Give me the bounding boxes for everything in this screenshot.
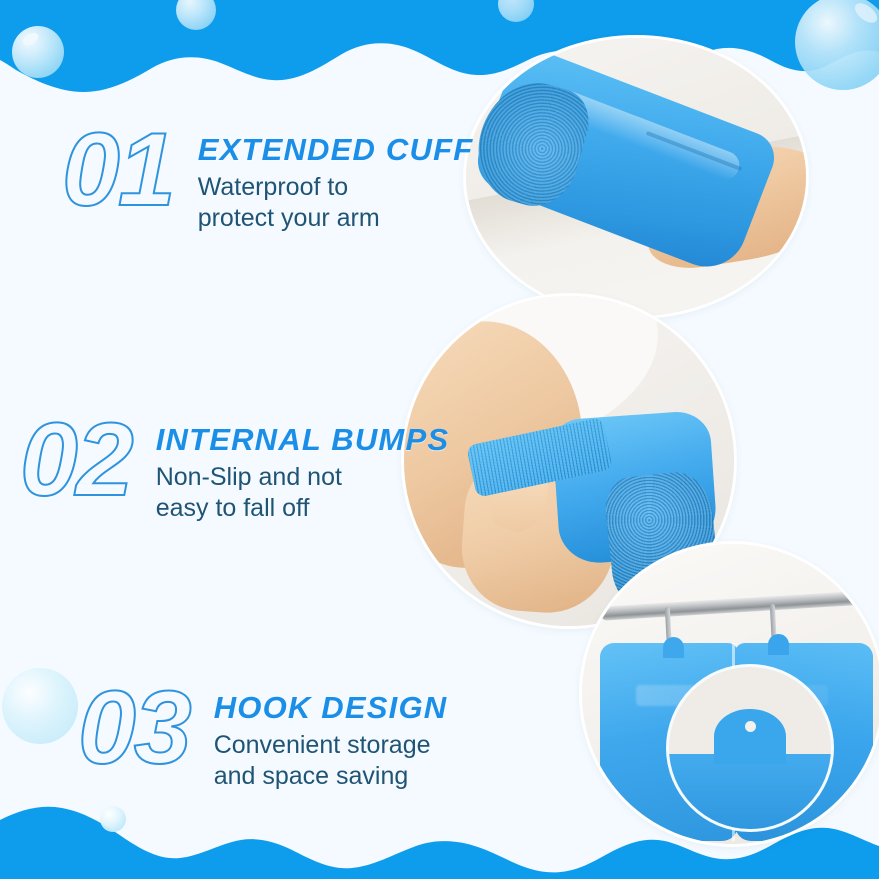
feature-heading-02: INTERNAL BUMPS — [156, 422, 450, 458]
feature-number-03: 03 — [78, 676, 190, 780]
infographic-canvas: 01 EXTENDED CUFF Waterproof to protect y… — [0, 0, 879, 879]
feature-line1-02: Non-Slip and not — [156, 462, 450, 493]
photo-extended-cuff — [466, 38, 806, 316]
feature-line2-02: easy to fall off — [156, 493, 450, 524]
feature-number-02: 02 — [20, 408, 132, 512]
feature-line2-01: protect your arm — [198, 203, 474, 234]
feature-line1-03: Convenient storage — [214, 730, 448, 761]
feature-row-01: 01 EXTENDED CUFF Waterproof to protect y… — [62, 118, 473, 233]
feature-heading-03: HOOK DESIGN — [214, 690, 448, 726]
hook-detail-inset — [669, 667, 831, 829]
feature-heading-01: EXTENDED CUFF — [198, 132, 474, 168]
bubble-decoration-upper-left — [12, 26, 64, 78]
bubble-decoration-top-right-small — [498, 0, 534, 22]
feature-row-02: 02 INTERNAL BUMPS Non-Slip and not easy … — [20, 408, 449, 523]
bubble-decoration-lower-left — [2, 668, 78, 744]
bubble-decoration-top-middle — [176, 0, 216, 30]
feature-line2-03: and space saving — [214, 761, 448, 792]
feature-line1-01: Waterproof to — [198, 172, 474, 203]
bubble-decoration-bottom-small — [100, 806, 126, 832]
photo-hook-design — [582, 544, 879, 844]
feature-number-01: 01 — [62, 118, 174, 222]
bubble-decoration-large-top-right — [795, 0, 879, 90]
feature-row-03: 03 HOOK DESIGN Convenient storage and sp… — [78, 676, 447, 791]
hook-hole-icon — [745, 721, 756, 732]
